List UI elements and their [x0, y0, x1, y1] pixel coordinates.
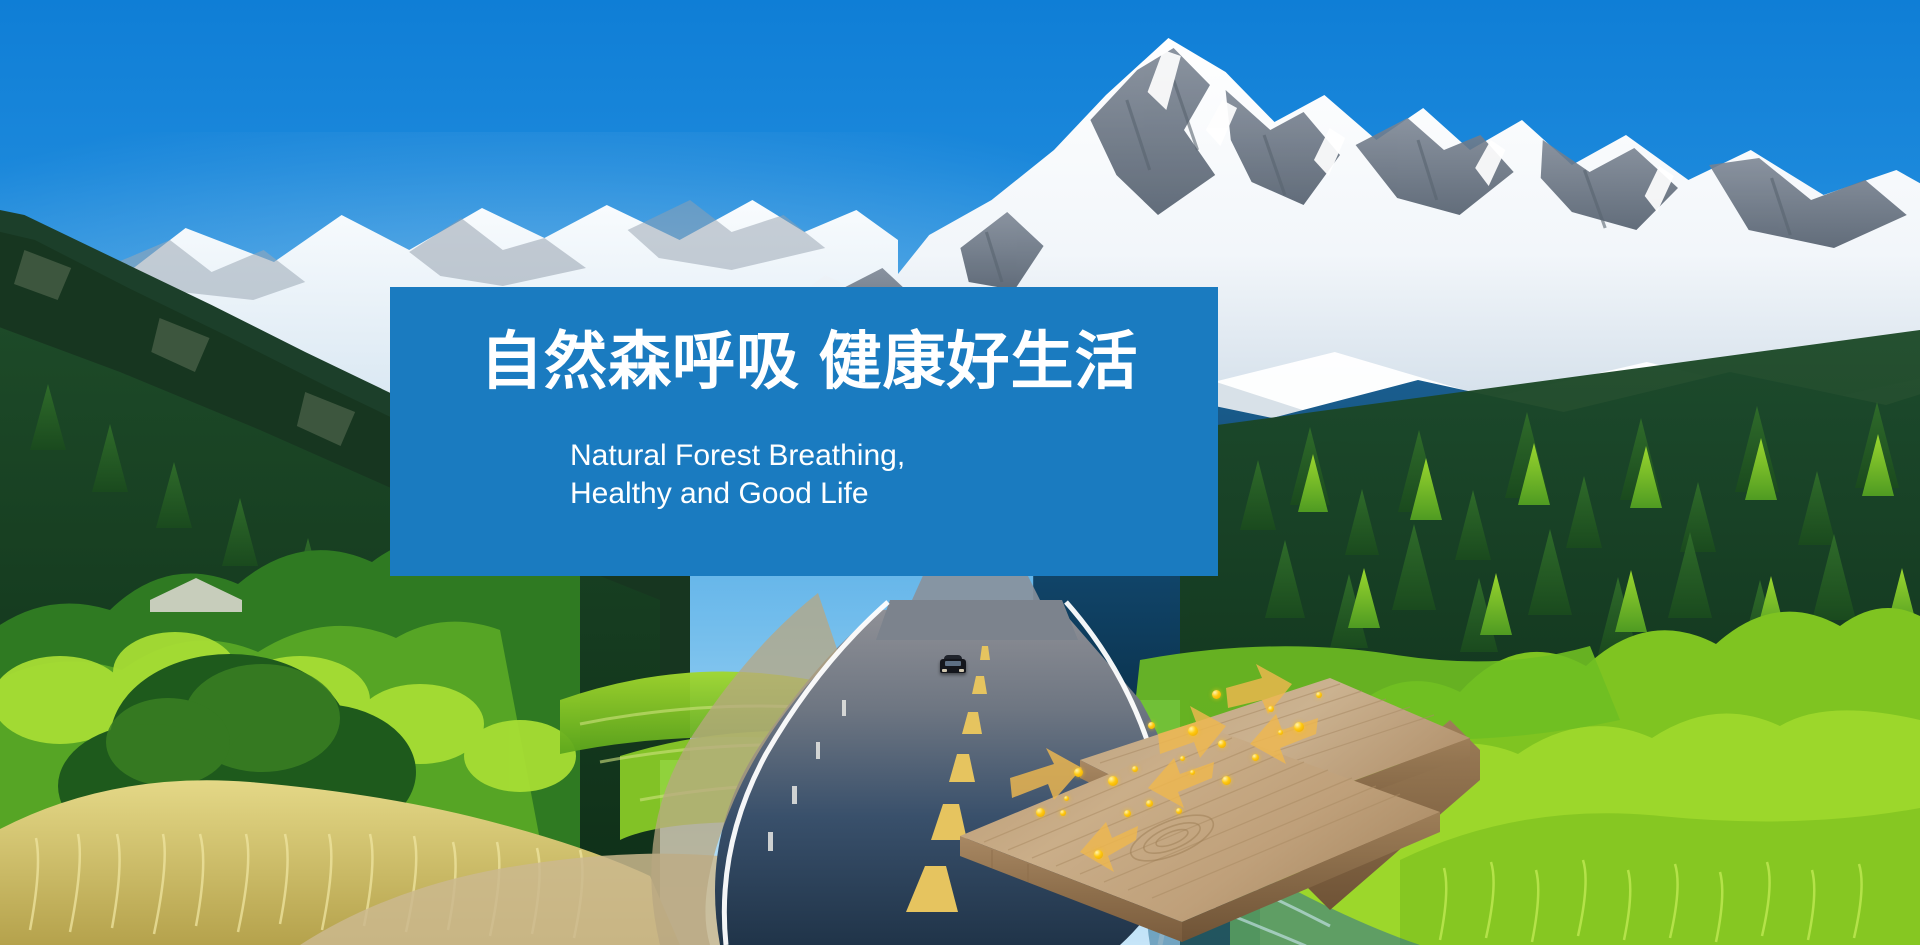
air-particle	[1180, 756, 1185, 761]
page-title: 自然森呼吸 健康好生活	[480, 327, 1180, 398]
hero-text-panel: 自然森呼吸 健康好生活 Natural Forest Breathing, He…	[390, 287, 1218, 576]
wood-flooring-planks	[950, 660, 1480, 945]
air-particle	[1124, 810, 1131, 817]
hero-banner: 自然森呼吸 健康好生活 Natural Forest Breathing, He…	[0, 0, 1920, 945]
air-particle	[1036, 808, 1045, 817]
air-particle	[1316, 692, 1322, 698]
air-particle	[1252, 754, 1259, 761]
page-subtitle: Natural Forest Breathing, Healthy and Go…	[570, 437, 1170, 514]
air-particle	[1212, 690, 1221, 699]
air-particle	[1146, 800, 1153, 807]
subtitle-line-2: Healthy and Good Life	[570, 475, 1170, 513]
air-particle	[1222, 776, 1231, 785]
air-particle	[1132, 766, 1138, 772]
air-particle	[1268, 706, 1274, 712]
air-particle	[1188, 726, 1198, 736]
air-particle	[1278, 730, 1283, 735]
subtitle-line-1: Natural Forest Breathing,	[570, 437, 1170, 475]
air-particle	[1064, 796, 1069, 801]
car-headlight-left	[942, 669, 947, 672]
air-particle	[1218, 740, 1226, 748]
air-particle	[1190, 770, 1195, 775]
air-particle	[1148, 722, 1155, 729]
air-particle	[1108, 776, 1118, 786]
air-particle	[1176, 808, 1182, 814]
air-particle	[1074, 768, 1083, 777]
air-particle	[1294, 722, 1304, 732]
air-particle	[1094, 850, 1103, 859]
air-particle	[1060, 810, 1066, 816]
